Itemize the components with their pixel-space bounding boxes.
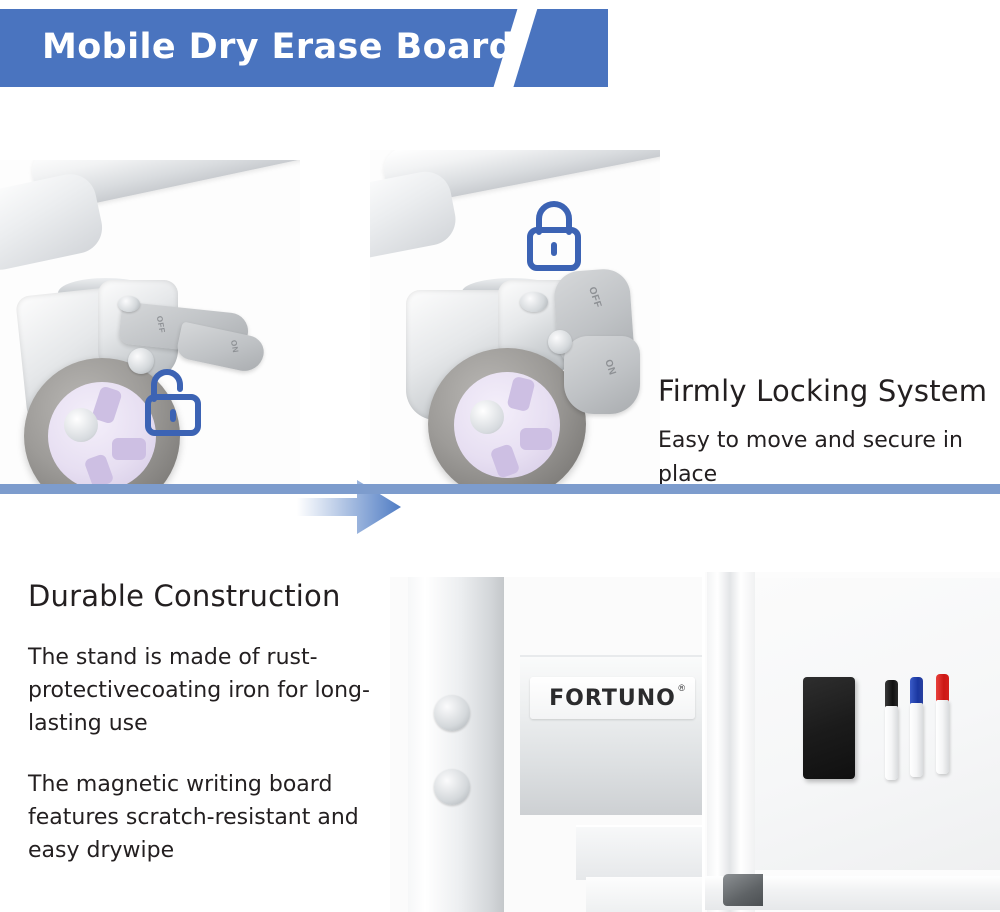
caster-locked-photo: OFF ON	[370, 150, 660, 484]
post-bolt-upper	[434, 695, 470, 731]
caster-rivet	[118, 296, 140, 312]
locking-system-text: Firmly Locking System Easy to move and s…	[658, 375, 998, 493]
unlocked-padlock-icon	[140, 365, 204, 439]
marker-cap	[885, 680, 898, 708]
stand-post	[408, 577, 504, 912]
red-marker	[936, 674, 949, 774]
marker-cap	[910, 677, 923, 705]
black-marker	[885, 680, 898, 780]
hub-cap	[64, 408, 98, 442]
locking-system-section: OFF ON	[0, 150, 1000, 484]
magnetic-eraser	[803, 677, 855, 779]
caster-unlocked-photo: OFF ON	[0, 160, 300, 484]
marker-barrel	[885, 706, 898, 780]
product-infographic: Mobile Dry Erase Board OFF ON	[0, 0, 1000, 912]
stand-post-photo: FORTUNO ®	[390, 577, 702, 912]
caster-rivet	[520, 292, 548, 312]
header-banner: Mobile Dry Erase Board	[0, 9, 608, 87]
marker-cap	[936, 674, 949, 702]
brake-lever-pedal	[564, 336, 640, 414]
marker-barrel	[910, 703, 923, 777]
gray-corner-cap-icon	[723, 874, 763, 906]
stand-shelf	[576, 825, 702, 880]
section1-heading: Firmly Locking System	[658, 375, 998, 408]
durable-construction-text: Durable Construction The stand is made o…	[28, 579, 388, 867]
post-bolt-lower	[434, 769, 470, 805]
frame-tube-end	[0, 169, 107, 274]
locked-padlock-icon	[522, 198, 586, 272]
brand-label: FORTUNO	[549, 686, 676, 711]
whiteboard-frame-left	[707, 572, 755, 912]
section2-heading: Durable Construction	[28, 579, 388, 613]
frame-tube-end	[370, 167, 460, 263]
section2-paragraph-1: The stand is made of rust-protectivecoat…	[28, 641, 388, 740]
marker-barrel	[936, 700, 949, 774]
durable-construction-section: Durable Construction The stand is made o…	[0, 494, 1000, 912]
hub-spoke	[112, 438, 146, 460]
section2-paragraph-2: The magnetic writing board features scra…	[28, 768, 388, 867]
blue-marker	[910, 677, 923, 777]
trademark-symbol: ®	[678, 683, 685, 693]
section-divider	[0, 484, 1000, 494]
whiteboard-surface	[755, 578, 1000, 870]
brand-plate: FORTUNO ®	[530, 677, 695, 719]
stand-tray	[586, 877, 702, 912]
section1-body: Easy to move and secure in place	[658, 424, 998, 492]
page-title: Mobile Dry Erase Board	[42, 27, 514, 67]
whiteboard-accessories-photo	[705, 572, 1000, 912]
hub-spoke	[520, 428, 552, 450]
caster-bolt	[548, 330, 572, 354]
hub-cap	[470, 400, 504, 434]
